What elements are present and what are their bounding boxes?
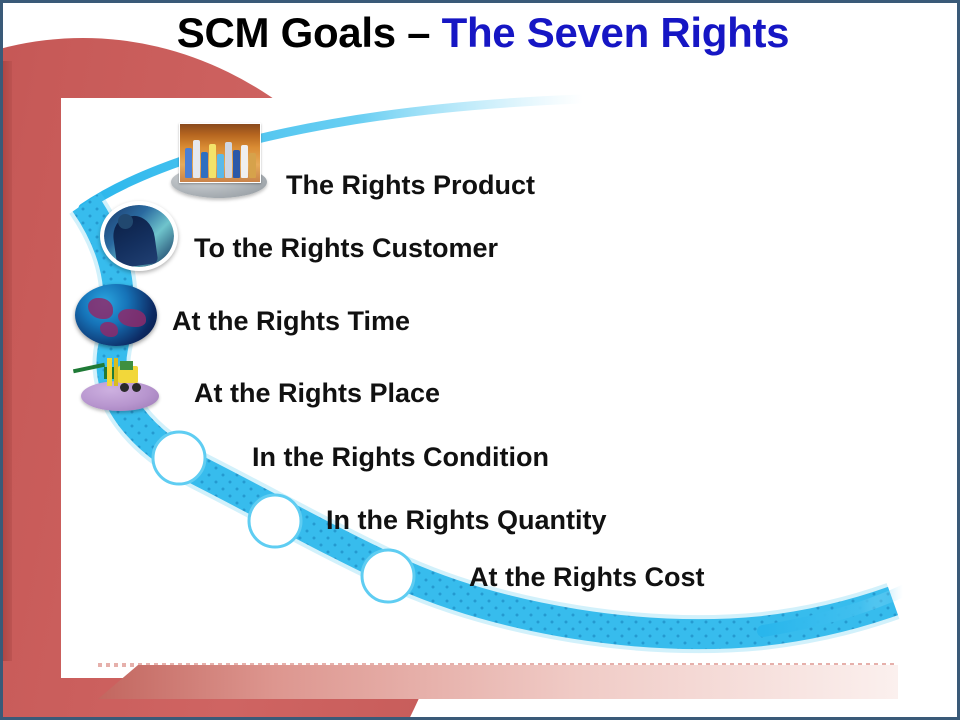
right-item-time[interactable]: At the Rights Time (172, 306, 410, 337)
slide-canvas: SCM Goals – The Seven Rights The Rights … (0, 0, 960, 720)
right-item-product[interactable]: The Rights Product (286, 170, 535, 201)
right-item-cost[interactable]: At the Rights Cost (469, 562, 705, 593)
right-item-customer[interactable]: To the Rights Customer (194, 233, 498, 264)
right-item-condition[interactable]: In the Rights Condition (252, 442, 549, 473)
right-item-quantity[interactable]: In the Rights Quantity (326, 505, 607, 536)
seven-rights-list: The Rights Product To the Rights Custome… (3, 3, 960, 720)
right-item-place[interactable]: At the Rights Place (194, 378, 440, 409)
